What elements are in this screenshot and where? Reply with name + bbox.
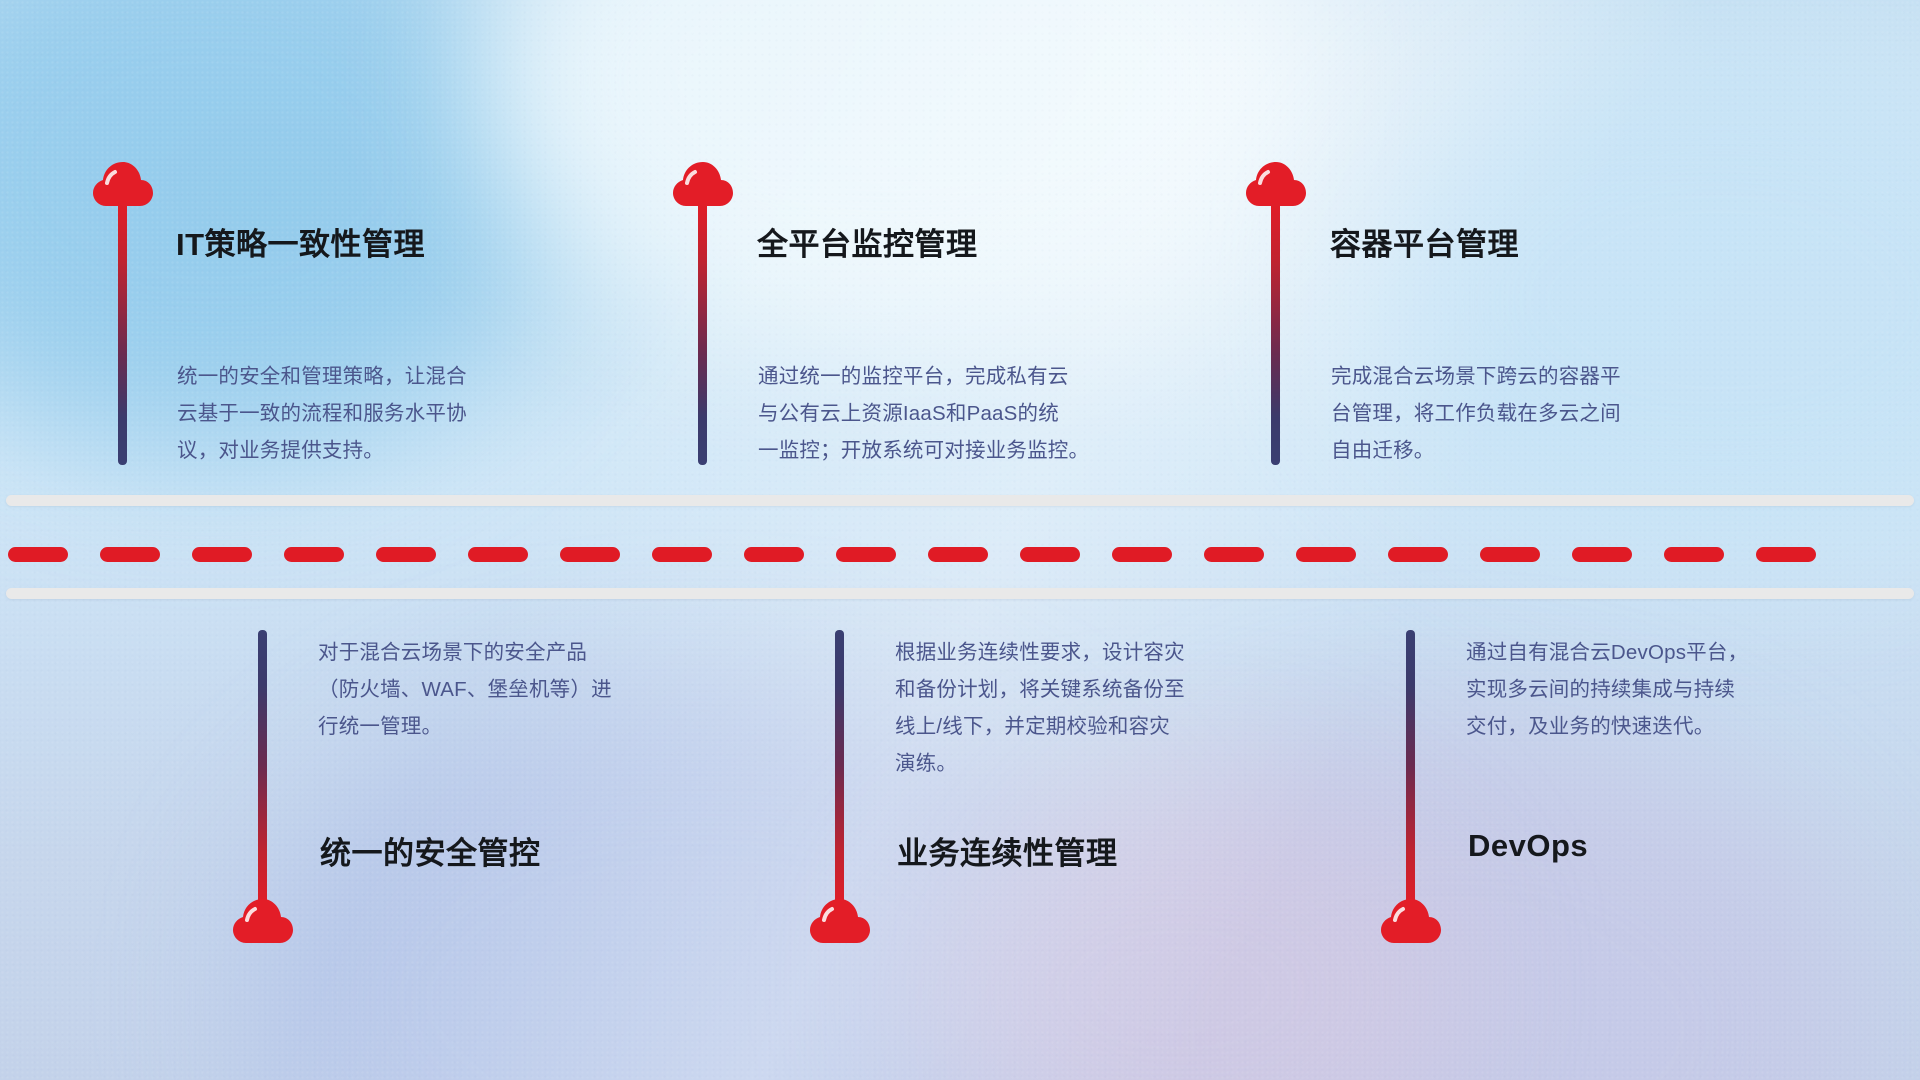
body-line: 对于混合云场景下的安全产品 xyxy=(318,634,748,671)
body-line: 云基于一致的流程和服务水平协 xyxy=(177,395,607,432)
card-body: 统一的安全和管理策略，让混合 云基于一致的流程和服务水平协 议，对业务提供支持。 xyxy=(177,358,607,469)
body-line: 实现多云间的持续集成与持续 xyxy=(1466,671,1886,708)
road-dash xyxy=(284,547,344,562)
body-line: 演练。 xyxy=(895,745,1325,782)
body-line: 线上/线下，并定期校验和容灾 xyxy=(895,708,1325,745)
road-dash xyxy=(1296,547,1356,562)
body-line: 自由迁移。 xyxy=(1331,432,1761,469)
cloud-pin-icon xyxy=(1380,898,1442,944)
connector-stem xyxy=(258,630,267,910)
road-dash xyxy=(1388,547,1448,562)
road-dash xyxy=(560,547,620,562)
road-dash xyxy=(1204,547,1264,562)
card-body: 通过统一的监控平台，完成私有云 与公有云上资源IaaS和PaaS的统 一监控；开… xyxy=(758,358,1198,469)
road-edge-bottom xyxy=(6,588,1914,599)
road-dash xyxy=(1020,547,1080,562)
card-body: 根据业务连续性要求，设计容灾 和备份计划，将关键系统备份至 线上/线下，并定期校… xyxy=(895,634,1325,782)
road-dash xyxy=(1480,547,1540,562)
body-line: 根据业务连续性要求，设计容灾 xyxy=(895,634,1325,671)
connector-stem xyxy=(698,200,707,465)
card-body: 对于混合云场景下的安全产品 （防火墙、WAF、堡垒机等）进 行统一管理。 xyxy=(318,634,748,745)
body-line: 行统一管理。 xyxy=(318,708,748,745)
card-heading: IT策略一致性管理 xyxy=(176,219,425,264)
body-line: 通过统一的监控平台，完成私有云 xyxy=(758,358,1198,395)
connector-stem xyxy=(835,630,844,910)
card-heading: 容器平台管理 xyxy=(1330,219,1519,264)
body-line: 与公有云上资源IaaS和PaaS的统 xyxy=(758,395,1198,432)
card-heading: 统一的安全管控 xyxy=(320,828,541,873)
road-center-dashes xyxy=(0,546,1920,562)
road-dash xyxy=(1112,547,1172,562)
cloud-pin-icon xyxy=(809,898,871,944)
card-heading: 全平台监控管理 xyxy=(757,219,978,264)
road-dash xyxy=(744,547,804,562)
road-dash xyxy=(1572,547,1632,562)
body-line: 完成混合云场景下跨云的容器平 xyxy=(1331,358,1761,395)
card-body: 通过自有混合云DevOps平台， 实现多云间的持续集成与持续 交付，及业务的快速… xyxy=(1466,634,1886,745)
body-line: 议，对业务提供支持。 xyxy=(177,432,607,469)
card-body: 完成混合云场景下跨云的容器平 台管理，将工作负载在多云之间 自由迁移。 xyxy=(1331,358,1761,469)
road-dash xyxy=(376,547,436,562)
road-dash xyxy=(928,547,988,562)
connector-stem xyxy=(1406,630,1415,910)
card-heading: DevOps xyxy=(1468,828,1588,864)
body-line: 和备份计划，将关键系统备份至 xyxy=(895,671,1325,708)
road-dash xyxy=(1664,547,1724,562)
road-dash xyxy=(192,547,252,562)
body-line: 统一的安全和管理策略，让混合 xyxy=(177,358,607,395)
body-line: （防火墙、WAF、堡垒机等）进 xyxy=(318,671,748,708)
body-line: 交付，及业务的快速迭代。 xyxy=(1466,708,1886,745)
road-dash xyxy=(468,547,528,562)
infographic-canvas: IT策略一致性管理 统一的安全和管理策略，让混合 云基于一致的流程和服务水平协 … xyxy=(0,0,1920,1080)
body-line: 一监控；开放系统可对接业务监控。 xyxy=(758,432,1198,469)
connector-stem xyxy=(1271,200,1280,465)
body-line: 台管理，将工作负载在多云之间 xyxy=(1331,395,1761,432)
cloud-pin-icon xyxy=(232,898,294,944)
road-dash xyxy=(8,547,68,562)
body-line: 通过自有混合云DevOps平台， xyxy=(1466,634,1886,671)
card-heading: 业务连续性管理 xyxy=(897,828,1118,873)
road-edge-top xyxy=(6,495,1914,506)
road-dash xyxy=(1756,547,1816,562)
connector-stem xyxy=(118,200,127,465)
road-dash xyxy=(652,547,712,562)
road-dash xyxy=(100,547,160,562)
road-dash xyxy=(836,547,896,562)
